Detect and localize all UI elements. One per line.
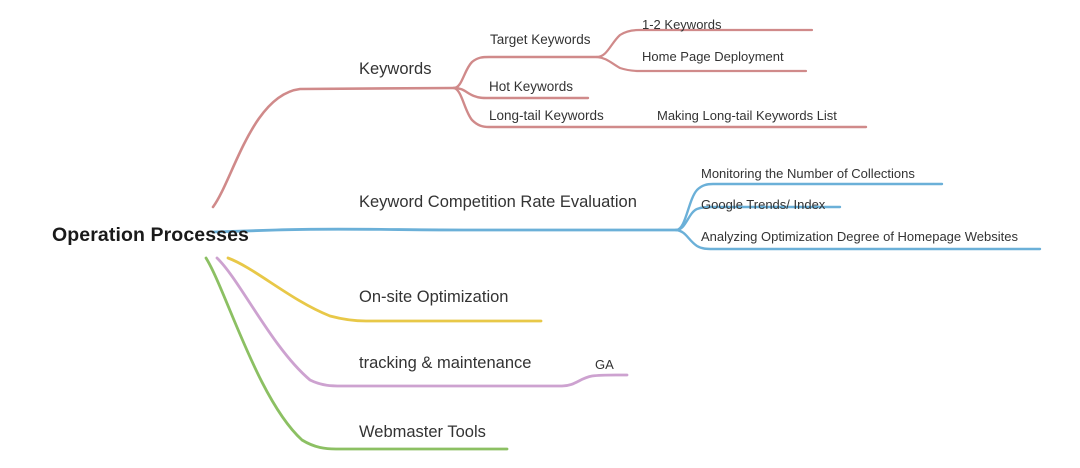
mind-map-canvas: Operation Processes Keywords Target Keyw… <box>0 0 1080 468</box>
node-label-monitoring-number-of-collections[interactable]: Monitoring the Number of Collections <box>701 167 915 180</box>
node-label-analyzing-optimization-degree[interactable]: Analyzing Optimization Degree of Homepag… <box>701 230 1018 243</box>
branch-label-keyword-competition-rate-evaluation[interactable]: Keyword Competition Rate Evaluation <box>359 194 637 211</box>
node-label-ga[interactable]: GA <box>595 358 614 371</box>
node-label-google-trends-index[interactable]: Google Trends/ Index <box>701 198 825 211</box>
node-label-home-page-deployment[interactable]: Home Page Deployment <box>642 50 784 63</box>
branch-label-webmaster-tools[interactable]: Webmaster Tools <box>359 424 486 441</box>
root-node-label[interactable]: Operation Processes <box>52 226 249 246</box>
branch-label-keywords[interactable]: Keywords <box>359 61 431 78</box>
node-label-long-tail-keywords[interactable]: Long-tail Keywords <box>489 109 604 123</box>
node-label-hot-keywords[interactable]: Hot Keywords <box>489 80 573 94</box>
node-label-making-long-tail-keywords-list[interactable]: Making Long-tail Keywords List <box>657 109 837 122</box>
branch-label-on-site-optimization[interactable]: On-site Optimization <box>359 289 508 306</box>
competition-root-stem <box>213 229 676 232</box>
branch-label-tracking-maintenance[interactable]: tracking & maintenance <box>359 355 531 372</box>
keywords-root-stem <box>213 88 454 207</box>
node-label-1-2-keywords[interactable]: 1-2 Keywords <box>642 18 721 31</box>
node-label-target-keywords[interactable]: Target Keywords <box>490 33 591 47</box>
